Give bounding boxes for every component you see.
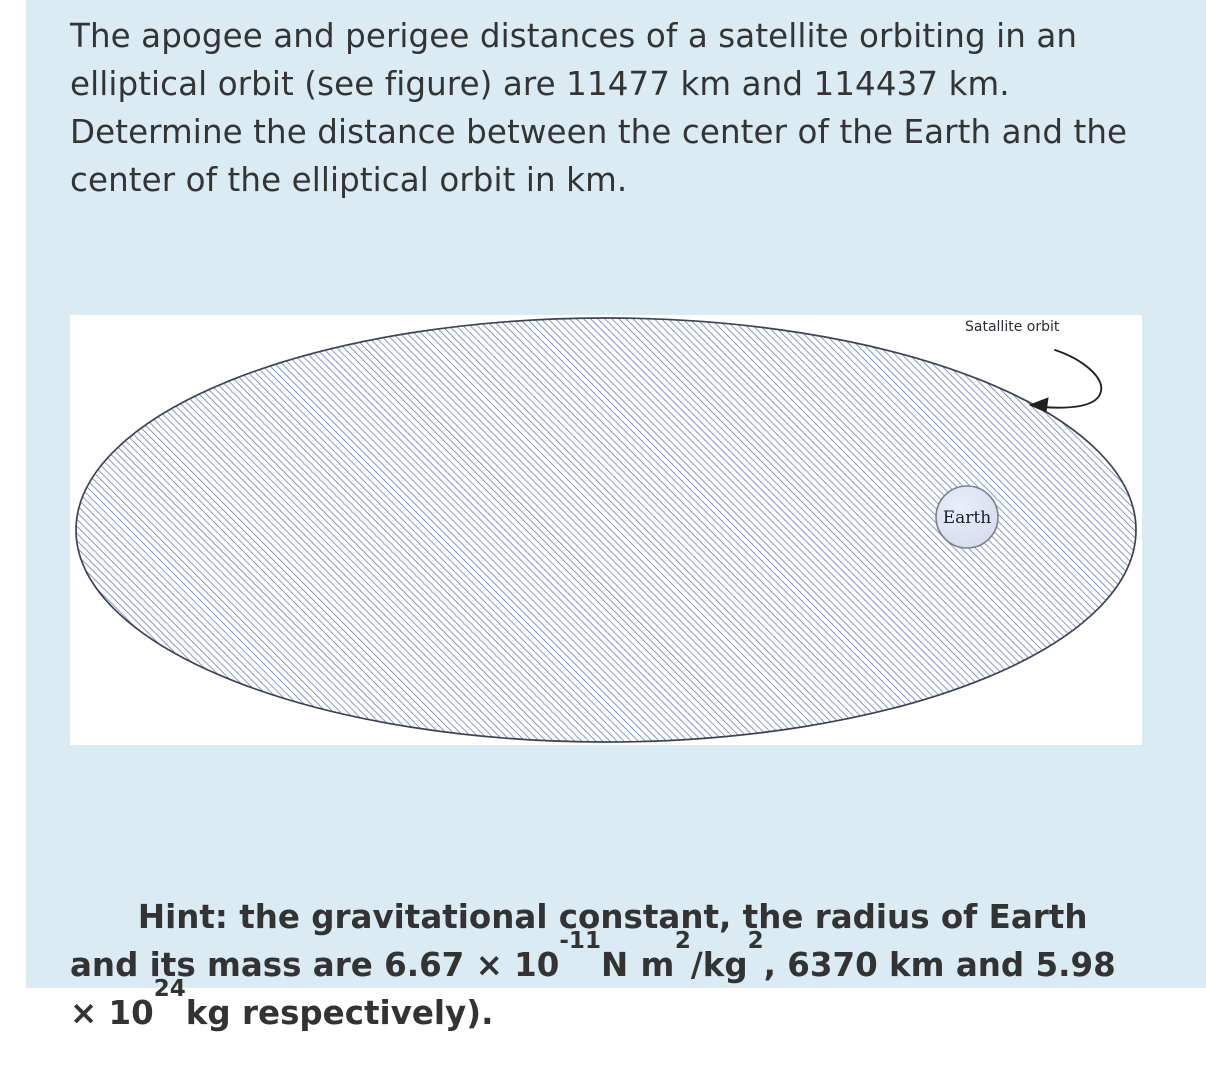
gravitational-constant-unit-mid: /kg — [691, 946, 748, 984]
orbit-figure-svg: Earth Satallite orbit — [70, 315, 1142, 745]
gravitational-constant-unit-exponent-1: 2 — [675, 928, 691, 954]
hint-after-constant: , 6370 km and — [764, 946, 1036, 984]
gravitational-constant-unit-before: N m — [601, 946, 675, 984]
question-statement: The apogee and perigee distances of a sa… — [70, 12, 1135, 204]
gravitational-constant-unit-exponent-2: 2 — [748, 928, 764, 954]
page-root: The apogee and perigee distances of a sa… — [0, 0, 1206, 988]
satellite-orbit-label: Satallite orbit — [965, 319, 1060, 335]
earth-label: Earth — [943, 508, 992, 528]
hint-tail: respectively). — [231, 994, 494, 1032]
earth-mass-unit: kg — [186, 994, 231, 1032]
gravitational-constant-exponent: -11 — [559, 928, 601, 954]
orbit-pointer-arrow — [1042, 350, 1101, 408]
gravitational-constant-mantissa: 6.67 × 10 — [384, 946, 559, 984]
earth-mass-exponent: 24 — [154, 976, 186, 1002]
page-panel: The apogee and perigee distances of a sa… — [26, 0, 1206, 988]
orbit-figure: Earth Satallite orbit — [70, 315, 1142, 745]
hint-statement: Hint: the gravitational constant, the ra… — [70, 845, 1140, 1085]
